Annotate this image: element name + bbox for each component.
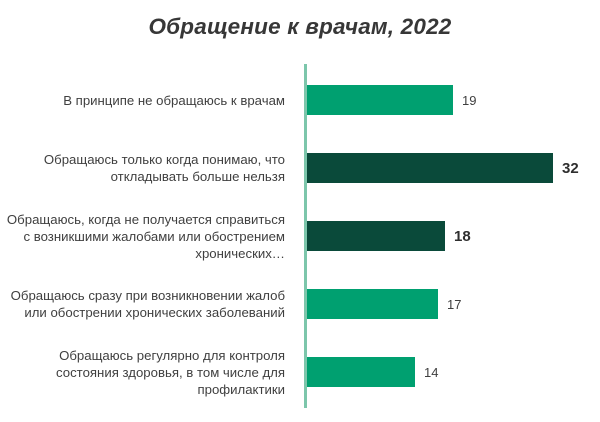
bar-segment[interactable] [307,221,445,251]
bar-value-label: 19 [462,93,476,108]
category-label: Обращаюсь только когда понимаю, что откл… [5,134,295,202]
bar-holder: 32 [307,134,579,202]
category-label-text: Обращаюсь регулярно для контроля состоян… [5,347,285,398]
bar-value-label: 14 [424,365,438,380]
category-label-text: Обращаюсь только когда понимаю, что откл… [5,151,285,185]
bar-value-label: 18 [454,228,471,245]
bar-row: Обращаюсь только когда понимаю, что откл… [0,134,600,202]
bar-holder: 14 [307,338,438,406]
bar-value-label: 17 [447,297,461,312]
chart-title: Обращение к врачам, 2022 [0,14,600,40]
category-label: В принципе не обращаюсь к врачам [5,66,295,134]
bar-segment[interactable] [307,153,553,183]
bar-row: Обращаюсь, когда не получается справитьс… [0,202,600,270]
bar-chart: Обращение к врачам, 2022 В принципе не о… [0,0,600,422]
bar-holder: 18 [307,202,471,270]
bar-row: Обращаюсь регулярно для контроля состоян… [0,338,600,406]
bar-row: Обращаюсь сразу при возникновении жалоб … [0,270,600,338]
bar-segment[interactable] [307,289,438,319]
plot-area: В принципе не обращаюсь к врачам 19 Обра… [0,60,600,410]
category-label: Обращаюсь сразу при возникновении жалоб … [5,270,295,338]
bar-row: В принципе не обращаюсь к врачам 19 [0,66,600,134]
bar-segment[interactable] [307,357,415,387]
category-label-text: В принципе не обращаюсь к врачам [5,92,285,109]
category-label-text: Обращаюсь сразу при возникновении жалоб … [5,287,285,321]
bar-segment[interactable] [307,85,453,115]
category-label: Обращаюсь регулярно для контроля состоян… [5,338,295,406]
bar-holder: 17 [307,270,461,338]
bar-holder: 19 [307,66,476,134]
bar-value-label: 32 [562,160,579,177]
category-label: Обращаюсь, когда не получается справитьс… [5,202,295,270]
category-label-text: Обращаюсь, когда не получается справитьс… [5,211,285,262]
